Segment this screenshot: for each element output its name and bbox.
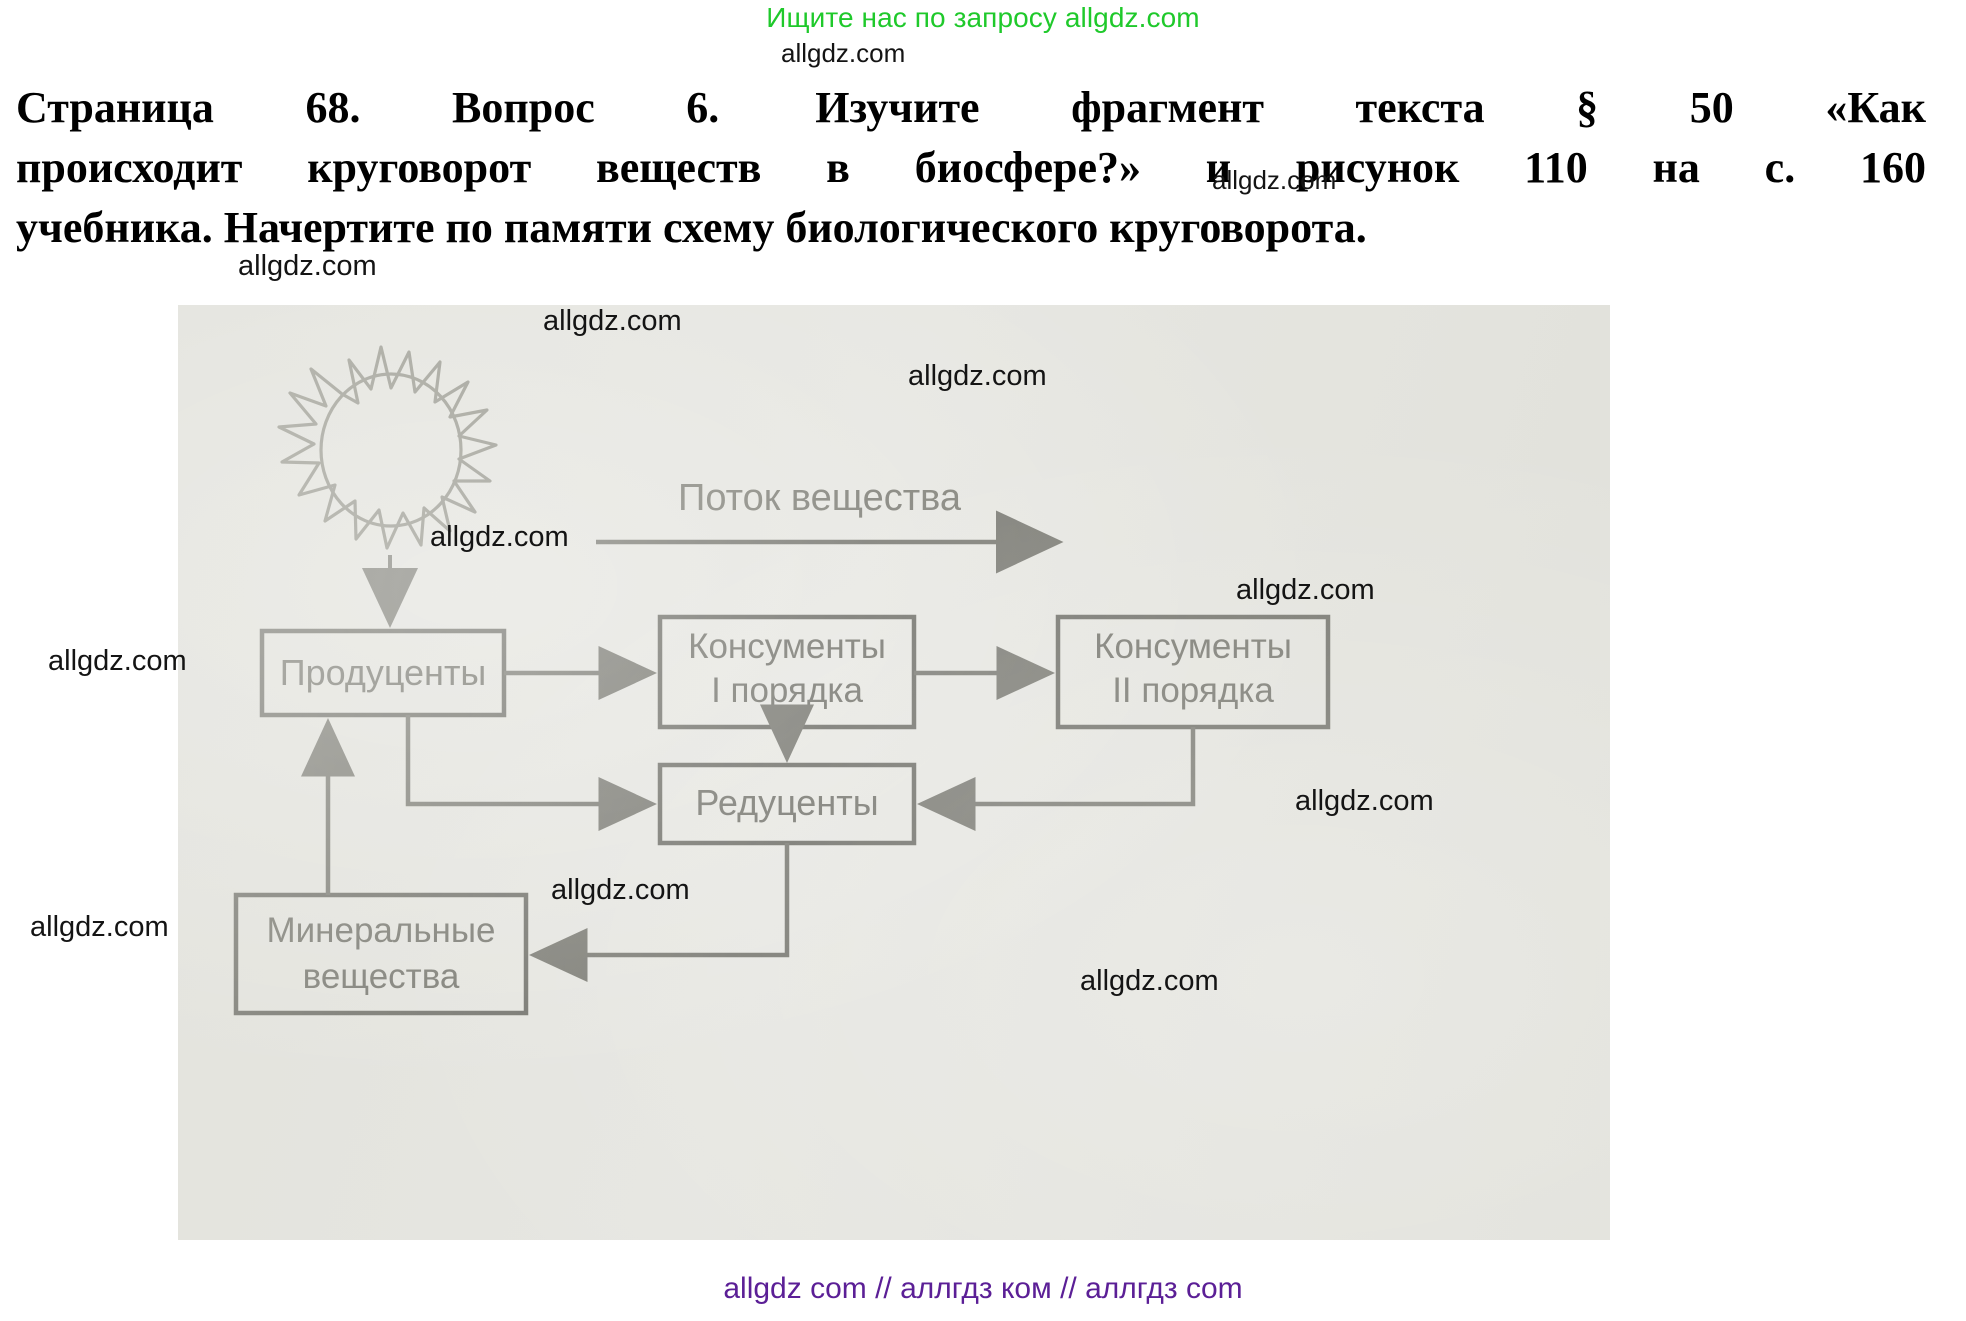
- heading-line-2: происходит круговорот веществ в биосфере…: [16, 138, 1926, 198]
- box-reducers-label: Редуценты: [695, 782, 878, 823]
- box-consumers-first-order: Консументы I порядка: [660, 617, 914, 727]
- box-mineral-substances: Минеральные вещества: [236, 895, 526, 1013]
- watermark: allgdz.com: [543, 305, 682, 338]
- box-producers-label: Продуценты: [280, 652, 487, 693]
- box-minerals-line1: Минеральные: [266, 911, 495, 950]
- promo-banner: Ищите нас по запросу allgdz.com: [0, 2, 1966, 34]
- heading-task-start: Изучите фрагмент текста § 50 «Как: [815, 83, 1926, 132]
- box-consumers2-line1: Консументы: [1094, 627, 1292, 666]
- watermark: allgdz.com: [1080, 965, 1219, 998]
- box-producers: Продуценты: [262, 631, 504, 715]
- heading-question-ref: Страница 68. Вопрос 6.: [16, 83, 719, 132]
- box-consumers-second-order: Консументы II порядка: [1058, 617, 1328, 727]
- biological-cycle-diagram: Поток вещества Продуценты Консументы I п…: [178, 305, 1610, 1240]
- watermark: allgdz.com: [238, 250, 377, 283]
- heading-line-3: учебника. Начертите по памяти схему биол…: [16, 198, 1926, 258]
- heading-line-1: Страница 68. Вопрос 6.Изучите фрагмент т…: [16, 78, 1926, 138]
- arrow-producers-to-reducers: [408, 715, 648, 804]
- box-reducers: Редуценты: [660, 765, 914, 843]
- box-consumers2-line2: II порядка: [1112, 671, 1274, 710]
- watermark: allgdz.com: [1295, 785, 1434, 818]
- page-title: Страница 68. Вопрос 6.Изучите фрагмент т…: [16, 78, 1926, 257]
- arrow-consumers2-to-reducers: [926, 727, 1193, 804]
- watermark: allgdz.com: [430, 521, 569, 554]
- flow-of-matter-label: Поток вещества: [678, 477, 962, 519]
- watermark: allgdz.com: [1236, 574, 1375, 607]
- sun-icon: [279, 347, 496, 548]
- watermark: allgdz.com: [908, 360, 1047, 393]
- page-root: Ищите нас по запросу allgdz.com Страница…: [0, 0, 1966, 1321]
- watermark: allgdz.com: [1212, 165, 1336, 196]
- footer-branding: allgdz com // аллгдз ком // аллгдз com: [0, 1272, 1966, 1306]
- box-minerals-line2: вещества: [303, 957, 460, 996]
- watermark: allgdz.com: [30, 911, 169, 944]
- watermark: allgdz.com: [781, 38, 905, 69]
- box-consumers1-line2: I порядка: [711, 671, 863, 710]
- watermark: allgdz.com: [551, 874, 690, 907]
- watermark: allgdz.com: [48, 645, 187, 678]
- box-consumers1-line1: Консументы: [688, 627, 886, 666]
- scanned-diagram-panel: Поток вещества Продуценты Консументы I п…: [178, 305, 1610, 1240]
